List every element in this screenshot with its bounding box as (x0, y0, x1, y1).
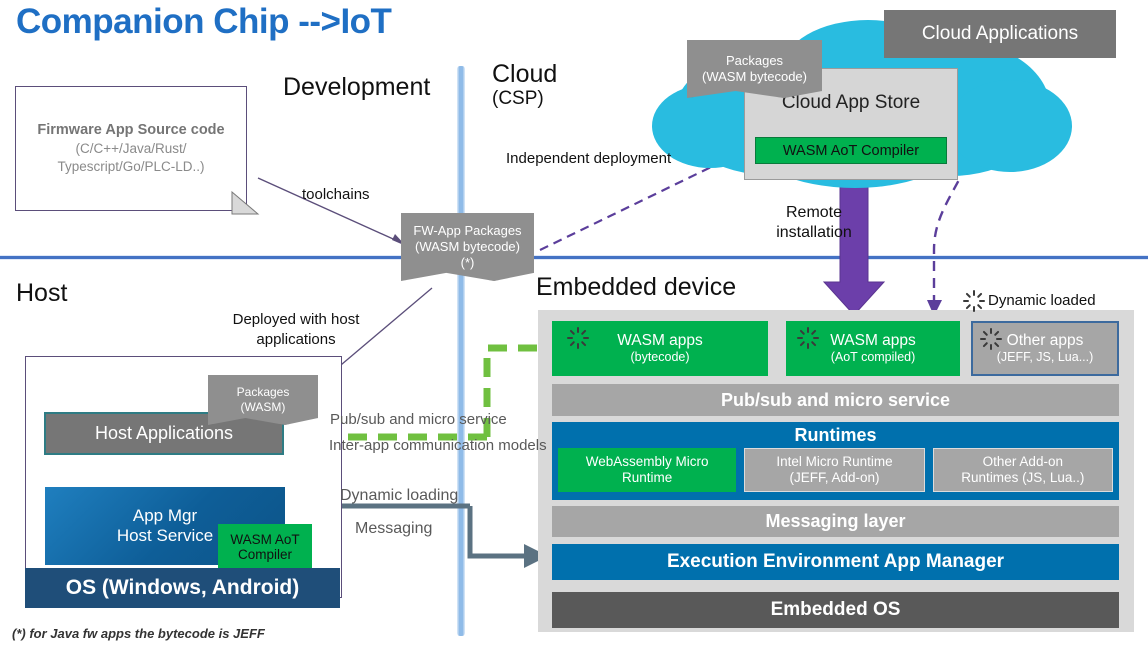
page-title: Companion Chip -->IoT (16, 2, 391, 42)
deployed-with-host-label: Deployed with host applications (216, 310, 376, 349)
embedded-app-2-name: Other apps (1007, 332, 1084, 351)
embedded-app-1-name: WASM apps (830, 332, 916, 351)
wasm-aot-host-line2: Compiler (238, 547, 292, 562)
fw-packages-line3: (*) (461, 255, 475, 271)
cloud-sublabel: (CSP) (492, 89, 557, 109)
runtime-2-l2: Runtimes (JS, Lua..) (961, 470, 1084, 486)
app-mgr-line1: App Mgr (133, 506, 197, 526)
runtime-0-l1: WebAssembly Micro (586, 454, 709, 470)
runtime-intel-micro[interactable]: Intel Micro Runtime (JEFF, Add-on) (744, 448, 924, 492)
section-heading-cloud: Cloud (CSP) (492, 60, 557, 109)
deployed-with-host-line2: applications (256, 331, 335, 348)
firmware-source-box: Firmware App Source code (C/C++/Java/Rus… (15, 86, 247, 211)
dynamic-loading-label: Dynamic loading (340, 487, 458, 505)
remote-installation-line1: Remote (786, 204, 842, 221)
runtime-1-l1: Intel Micro Runtime (776, 454, 892, 470)
host-os-bar[interactable]: OS (Windows, Android) (25, 568, 340, 608)
runtime-other-addon[interactable]: Other Add-on Runtimes (JS, Lua..) (933, 448, 1113, 492)
runtime-2-l1: Other Add-on (983, 454, 1063, 470)
wasm-aot-compiler-cloud[interactable]: WASM AoT Compiler (755, 137, 947, 164)
spinner-icon (979, 328, 1001, 350)
firmware-source-line3: Typescript/Go/PLC-LD..) (57, 158, 204, 176)
horizontal-divider (0, 255, 1148, 260)
app-mgr-line2: Host Service (117, 526, 213, 546)
wasm-aot-compiler-host[interactable]: WASM AoT Compiler (218, 524, 312, 570)
dynamic-loaded-spinner-icon (962, 290, 984, 312)
runtimes-bar-label: Runtimes (552, 422, 1119, 448)
spinner-icon (566, 327, 588, 349)
fw-packages-line2: (WASM bytecode) (415, 239, 520, 255)
footnote: (*) for Java fw apps the bytecode is JEF… (12, 626, 265, 641)
toolchains-label: toolchains (302, 186, 370, 203)
pubsub-micro-service-bar[interactable]: Pub/sub and micro service (552, 384, 1119, 416)
embedded-app-0-name: WASM apps (617, 332, 703, 351)
firmware-source-line2: (C/C++/Java/Rust/ (75, 140, 186, 158)
spinner-icon (796, 327, 818, 349)
runtime-1-l2: (JEFF, Add-on) (789, 470, 879, 486)
section-heading-embedded: Embedded device (536, 273, 736, 302)
fw-packages-line1: FW-App Packages (413, 223, 521, 239)
independent-deployment-label: Independent deployment (506, 150, 671, 167)
section-heading-development: Development (283, 73, 430, 102)
messaging-layer-bar[interactable]: Messaging layer (552, 506, 1119, 537)
runtimes-group: Runtimes WebAssembly Micro Runtime Intel… (552, 422, 1119, 500)
remote-installation-label: Remote installation (772, 203, 856, 243)
cloud-packages-callout: Packages (WASM bytecode) (687, 40, 822, 98)
fw-app-packages-callout: FW-App Packages (WASM bytecode) (*) (401, 213, 534, 281)
cloud-packages-line2: (WASM bytecode) (702, 69, 807, 85)
embedded-os-bar[interactable]: Embedded OS (552, 592, 1119, 628)
section-heading-host: Host (16, 279, 67, 308)
cloud-label: Cloud (492, 60, 557, 88)
wasm-aot-host-line1: WASM AoT (230, 532, 299, 547)
inter-app-communication-label: Inter-app communication models (329, 437, 547, 454)
host-packages-callout: Packages (WASM) (208, 375, 318, 425)
embedded-app-2-sub: (JEFF, JS, Lua...) (997, 350, 1094, 365)
messaging-label: Messaging (355, 520, 432, 538)
firmware-source-heading: Firmware App Source code (37, 121, 224, 141)
embedded-app-1-sub: (AoT compiled) (831, 350, 916, 365)
cloud-packages-line1: Packages (726, 53, 783, 69)
cloud-applications-box[interactable]: Cloud Applications (884, 10, 1116, 58)
pubsub-micro-service-label: Pub/sub and micro service (330, 411, 507, 428)
vertical-divider (457, 66, 465, 636)
deployed-with-host-line1: Deployed with host (233, 311, 360, 328)
host-packages-line2: (WASM) (241, 400, 286, 415)
dynamic-loaded-label: Dynamic loaded (988, 292, 1096, 309)
runtime-0-l2: Runtime (622, 470, 672, 486)
host-packages-line1: Packages (237, 385, 290, 400)
runtime-wasm-micro[interactable]: WebAssembly Micro Runtime (558, 448, 736, 492)
embedded-app-0-sub: (bytecode) (630, 350, 689, 365)
remote-installation-line2: installation (776, 224, 852, 241)
execution-env-app-manager-bar[interactable]: Execution Environment App Manager (552, 544, 1119, 580)
